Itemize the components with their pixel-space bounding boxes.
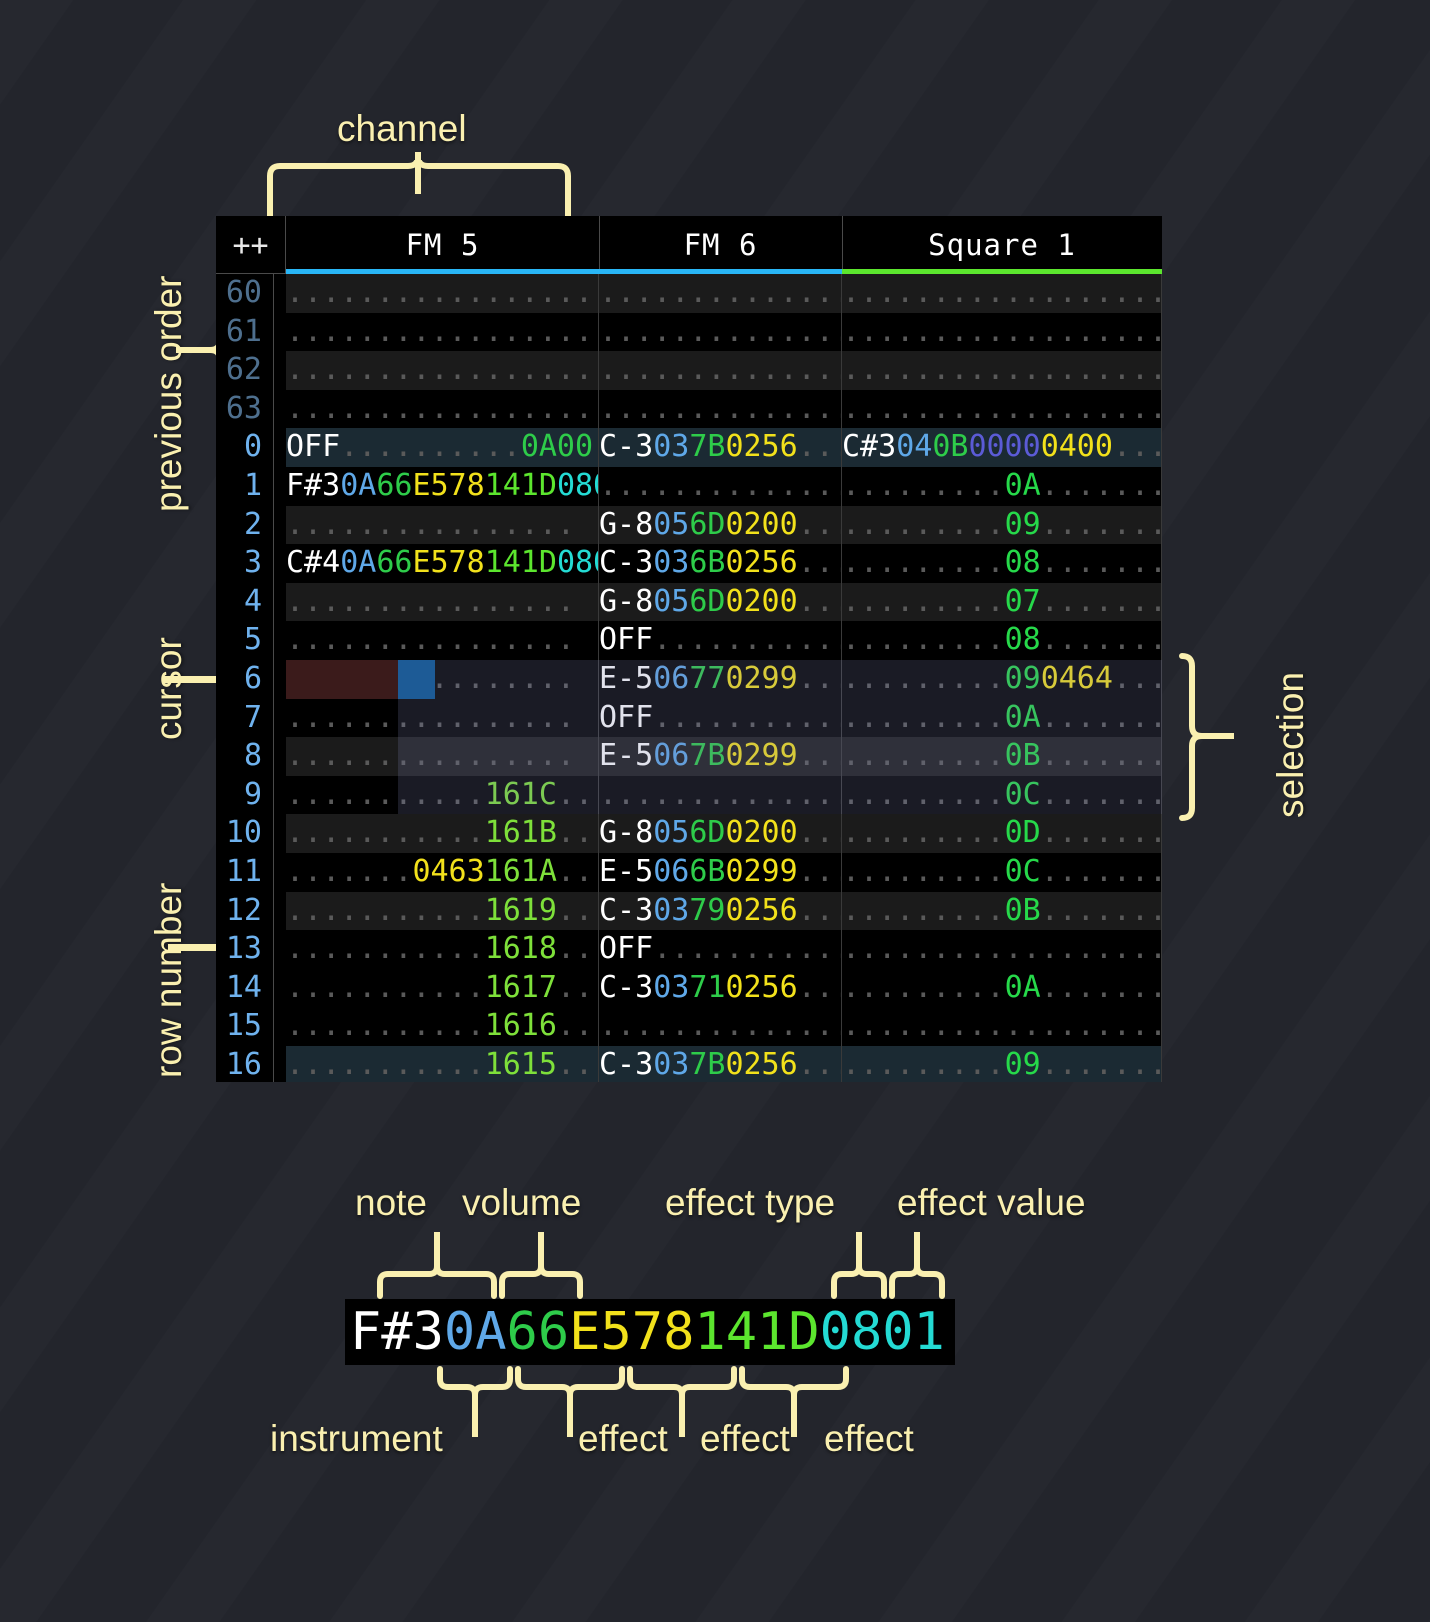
pattern-row[interactable]: 2................G-8056D0200............… — [216, 506, 1162, 545]
pattern-cell[interactable]: ........................... — [286, 274, 599, 313]
annotation-note: note — [355, 1182, 427, 1224]
pattern-cell[interactable]: G-8056D0200.... — [599, 506, 842, 545]
pattern-cell[interactable]: OFF............ — [599, 621, 842, 660]
annotation-effect-type: effect type — [665, 1182, 835, 1224]
pattern-row[interactable]: 13...........1618....OFF................… — [216, 930, 1162, 969]
legend-lower-brackets — [330, 1365, 970, 1441]
pattern-cell[interactable]: ...........161B.... — [286, 814, 599, 853]
pattern-cell[interactable]: ........................... — [286, 313, 599, 352]
pattern-cell[interactable]: C-3036B0256.... — [599, 544, 842, 583]
pattern-cell[interactable]: G-8056D0200.... — [599, 583, 842, 622]
channel-header-2[interactable]: FM 6 — [599, 216, 843, 274]
legend-segment-fx3: 0801 — [820, 1302, 945, 1362]
pattern-cell[interactable]: ........................... — [842, 390, 1162, 429]
pattern-row[interactable]: 5................OFF....................… — [216, 621, 1162, 660]
row-number: 2 — [216, 506, 274, 545]
pattern-cell[interactable]: OFF..........0A00 — [286, 428, 599, 467]
row-number: 12 — [216, 892, 274, 931]
row-number: 13 — [216, 930, 274, 969]
annotation-effect-value: effect value — [897, 1182, 1086, 1224]
pattern-cell[interactable]: .........0A......... — [842, 969, 1162, 1008]
pattern-row[interactable]: 0OFF..........0A00C-3037B0256....C#3040B… — [216, 428, 1162, 467]
pattern-cell[interactable]: ........................... — [286, 390, 599, 429]
pattern-row[interactable]: 12...........1619....C-303790256........… — [216, 892, 1162, 931]
pattern-cell[interactable]: ........................... — [842, 274, 1162, 313]
pattern-cell[interactable]: .........09......... — [842, 1046, 1162, 1082]
annotation-selection: selection — [1270, 672, 1312, 818]
channel-bracket-stem — [415, 152, 421, 194]
legend-example-row: F#30A66E578141D0801 — [345, 1299, 955, 1365]
legend-segment-vol: 66 — [507, 1302, 570, 1362]
row-number: 7 — [216, 699, 274, 738]
pattern-cell[interactable]: ........................... — [599, 274, 842, 313]
pattern-cell[interactable]: C-3037B0256.... — [599, 428, 842, 467]
pattern-cell[interactable]: ............... — [599, 467, 842, 506]
pattern-cell[interactable]: G-8056D0200.... — [599, 814, 842, 853]
annotation-channel: channel — [337, 108, 467, 150]
row-number: 0 — [216, 428, 274, 467]
row-number: 1 — [216, 467, 274, 506]
pattern-row[interactable]: 16...........1615....C-3037B0256........… — [216, 1046, 1162, 1082]
pattern-cell[interactable]: F#30A66E578141D0801 — [286, 467, 599, 506]
pattern-cell[interactable]: ................... — [842, 1007, 1162, 1046]
pattern-cell[interactable]: C#3040B00000400.... — [842, 428, 1162, 467]
pattern-cell[interactable]: ........................... — [599, 313, 842, 352]
pattern-cell[interactable]: E-5066B0299.... — [599, 853, 842, 892]
pattern-cell[interactable]: .........0C......... — [842, 853, 1162, 892]
pattern-cell[interactable]: ........................... — [286, 351, 599, 390]
pattern-cell[interactable]: ...........1617.... — [286, 969, 599, 1008]
annotation-volume: volume — [462, 1182, 581, 1224]
selection-bracket — [1176, 652, 1236, 822]
pattern-cell[interactable]: ............... — [599, 1007, 842, 1046]
channel-bracket — [264, 160, 584, 222]
row-number: 9 — [216, 776, 274, 815]
pattern-cell[interactable]: C-3037B0256.... — [599, 1046, 842, 1082]
edit-cursor[interactable] — [398, 660, 435, 699]
pattern-row[interactable]: 4................G-8056D0200............… — [216, 583, 1162, 622]
pattern-header: ++ FM 5FM 6Square 1 — [216, 216, 1162, 274]
pattern-cell[interactable]: ...........1615.... — [286, 1046, 599, 1082]
pattern-cell[interactable]: C#40A66E578141D0801 — [286, 544, 599, 583]
legend-segment-fx1: E578 — [569, 1302, 694, 1362]
row-number: 11 — [216, 853, 274, 892]
channel-header-1[interactable]: FM 5 — [286, 216, 600, 274]
pattern-cell[interactable]: C-303710256.... — [599, 969, 842, 1008]
pattern-row[interactable]: 15...........1616.......................… — [216, 1007, 1162, 1046]
selection-overlay — [398, 660, 1162, 814]
pattern-cell[interactable]: ........................... — [842, 313, 1162, 352]
pattern-cell[interactable]: .........0A......... — [842, 467, 1162, 506]
row-number: 6 — [216, 660, 274, 699]
pattern-row[interactable]: 63......................................… — [216, 390, 1162, 429]
pattern-row[interactable]: 1F#30A66E578141D0801....................… — [216, 467, 1162, 506]
pattern-row[interactable]: 60......................................… — [216, 274, 1162, 313]
pattern-row[interactable]: 10...........161B....G-8056D0200........… — [216, 814, 1162, 853]
row-number: 8 — [216, 737, 274, 776]
pattern-row[interactable]: 62......................................… — [216, 351, 1162, 390]
pattern-cell[interactable]: ...........1619.... — [286, 892, 599, 931]
legend-upper-brackets — [330, 1232, 970, 1302]
row-number: 5 — [216, 621, 274, 660]
pattern-cell[interactable]: .........0B......... — [842, 892, 1162, 931]
pattern-cell[interactable]: C-303790256.... — [599, 892, 842, 931]
row-number: 3 — [216, 544, 274, 583]
pattern-cell[interactable]: .........08......... — [842, 544, 1162, 583]
pattern-cell[interactable]: .........09......... — [842, 506, 1162, 545]
row-number-header: ++ — [216, 216, 286, 274]
pattern-cell[interactable]: .........07......... — [842, 583, 1162, 622]
pattern-row[interactable]: 11.......0463161A....E-5066B0299........… — [216, 853, 1162, 892]
pattern-cell[interactable]: ................ — [286, 621, 599, 660]
legend-segment-ins: 0A — [444, 1302, 507, 1362]
row-number: 60 — [216, 274, 274, 313]
pattern-cell[interactable]: ................ — [286, 583, 599, 622]
pattern-cell[interactable]: ...........1618.... — [286, 930, 599, 969]
row-number: 15 — [216, 1007, 274, 1046]
row-number: 14 — [216, 969, 274, 1008]
pattern-row[interactable]: 14...........1617....C-303710256........… — [216, 969, 1162, 1008]
pattern-cell[interactable]: ........................... — [599, 351, 842, 390]
row-number: 16 — [216, 1046, 274, 1082]
pattern-cell[interactable]: .......0463161A.... — [286, 853, 599, 892]
pattern-cell[interactable]: .........08......... — [842, 621, 1162, 660]
pattern-row[interactable]: 61......................................… — [216, 313, 1162, 352]
pattern-cell[interactable]: ........................... — [599, 390, 842, 429]
row-number: 63 — [216, 390, 274, 429]
channel-header-3[interactable]: Square 1 — [842, 216, 1162, 274]
cursor-row-highlight — [286, 660, 398, 699]
pattern-cell[interactable]: ...........1616.... — [286, 1007, 599, 1046]
pattern-cell[interactable]: ................... — [842, 930, 1162, 969]
pattern-cell[interactable]: ........................... — [842, 351, 1162, 390]
row-number: 61 — [216, 313, 274, 352]
pattern-cell[interactable]: .........0D......... — [842, 814, 1162, 853]
annotation-cursor: cursor — [148, 637, 190, 740]
row-number: 4 — [216, 583, 274, 622]
row-number: 62 — [216, 351, 274, 390]
row-number: 10 — [216, 814, 274, 853]
legend-segment-fx2: 141D — [694, 1302, 819, 1362]
annotation-row-number: row number — [148, 883, 190, 1078]
pattern-cell[interactable]: OFF............ — [599, 930, 842, 969]
pattern-row[interactable]: 3C#40A66E578141D0801C-3036B0256.........… — [216, 544, 1162, 583]
pattern-cell[interactable]: ................ — [286, 506, 599, 545]
legend-segment-note: F#3 — [350, 1302, 444, 1362]
pattern-editor[interactable]: ++ FM 5FM 6Square 1 60..................… — [216, 216, 1162, 1082]
